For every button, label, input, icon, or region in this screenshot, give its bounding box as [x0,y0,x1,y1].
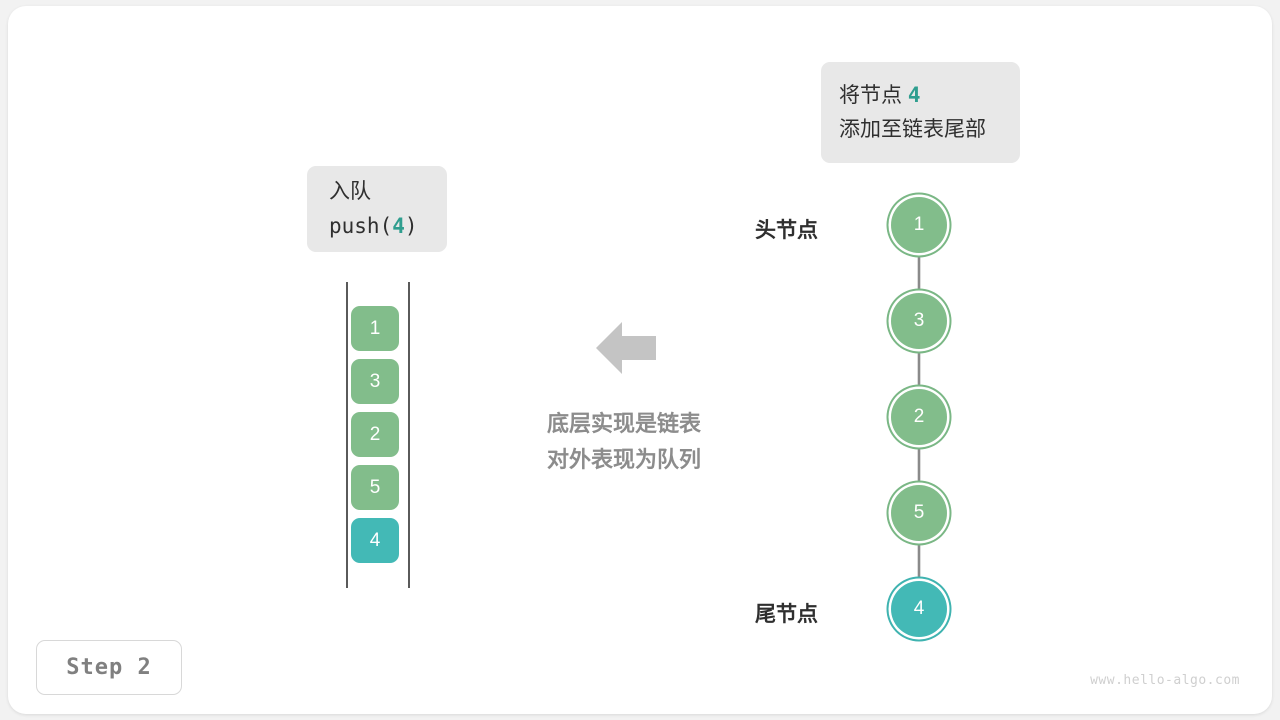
flow-caption-line1: 底层实现是链表 [500,406,748,442]
append-node-label: 将节点 4 添加至链表尾部 [821,62,1020,163]
queue-column: 1 3 2 5 4 [340,282,416,588]
push-label-line2: push(4) [329,209,447,243]
head-node-label: 头节点 [688,214,818,244]
list-node-new: 4 [891,581,947,637]
append-label-prefix: 将节点 [839,84,908,107]
list-node: 1 [891,197,947,253]
diagram-canvas: 入队 push(4) 将节点 4 添加至链表尾部 1 3 2 5 4 底层实现是… [0,0,1280,720]
push-call-prefix: push( [329,214,392,238]
push-label-line1: 入队 [329,175,447,209]
watermark: www.hello-algo.com [1040,673,1240,688]
step-badge: Step 2 [36,640,182,695]
left-arrow-icon [596,320,656,376]
flow-caption-line2: 对外表现为队列 [500,442,748,478]
append-label-line1: 将节点 4 [839,78,1020,113]
queue-item-new: 4 [351,518,399,563]
list-node: 5 [891,485,947,541]
queue-item: 5 [351,465,399,510]
push-call-suffix: ) [405,214,418,238]
list-node: 2 [891,389,947,445]
push-call-value: 4 [392,214,405,238]
list-node: 3 [891,293,947,349]
flow-caption: 底层实现是链表 对外表现为队列 [500,406,748,478]
queue-rail-right [408,282,410,588]
queue-item: 3 [351,359,399,404]
queue-item: 2 [351,412,399,457]
queue-rail-left [346,282,348,588]
append-label-value: 4 [908,83,921,107]
linked-list-connectors [770,180,990,650]
push-operation-label: 入队 push(4) [307,166,447,252]
append-label-line2: 添加至链表尾部 [839,113,1020,147]
queue-item: 1 [351,306,399,351]
tail-node-label: 尾节点 [688,598,818,628]
linked-list: 1 3 2 5 4 头节点 尾节点 [770,180,990,650]
